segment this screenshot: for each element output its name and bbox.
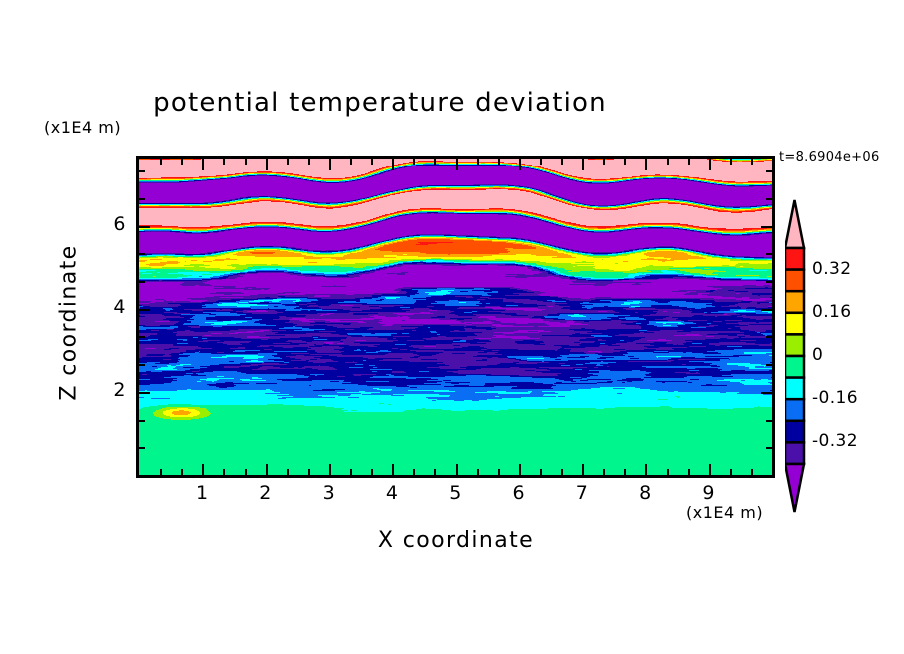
axis-tick — [245, 159, 247, 165]
y-tick-label: 2 — [86, 379, 126, 401]
axis-tick — [223, 469, 225, 475]
axis-tick — [603, 159, 605, 165]
axis-tick — [223, 159, 225, 165]
axis-tick — [434, 469, 436, 475]
x-tick-label: 2 — [246, 482, 286, 504]
axis-tick — [624, 469, 626, 475]
axis-tick — [392, 159, 394, 170]
axis-tick — [350, 469, 352, 475]
colorbar-tick-label: 0 — [812, 345, 823, 365]
axis-tick — [139, 309, 150, 311]
colorbar-band — [785, 313, 804, 335]
axis-tick — [498, 159, 500, 165]
axis-tick — [709, 464, 711, 475]
axis-tick — [139, 364, 145, 366]
axis-tick — [308, 159, 310, 165]
axis-tick — [160, 469, 162, 475]
x-axis-title: X coordinate — [136, 528, 776, 553]
figure-root: potential temperature deviation (x1E4 m)… — [0, 0, 904, 654]
x-tick-label: 6 — [499, 482, 539, 504]
colorbar-band — [785, 270, 804, 292]
axis-tick — [561, 159, 563, 165]
axis-tick — [139, 420, 145, 422]
colorbar-tick-label: 0.16 — [812, 302, 851, 322]
y-tick-label: 6 — [86, 213, 126, 235]
x-axis-unit-label: (x1E4 m) — [686, 503, 763, 522]
colorbar-band — [785, 399, 804, 421]
axis-tick — [139, 447, 145, 449]
axis-tick — [603, 469, 605, 475]
axis-tick — [582, 464, 584, 475]
colorbar-band — [785, 378, 804, 400]
y-axis-title: Z coordinate — [57, 223, 82, 423]
axis-tick — [751, 159, 753, 165]
axis-tick — [266, 159, 268, 170]
colorbar-tick-label: -0.16 — [812, 388, 858, 408]
axis-tick — [181, 469, 183, 475]
axis-tick — [709, 159, 711, 170]
axis-tick — [730, 159, 732, 165]
axis-tick — [498, 469, 500, 475]
axis-tick — [582, 159, 584, 170]
y-tick-label: 4 — [86, 296, 126, 318]
axis-tick — [329, 159, 331, 170]
colorbar-band — [785, 248, 804, 270]
colorbar-tick-label: -0.32 — [812, 431, 858, 451]
axis-tick — [245, 469, 247, 475]
axis-tick — [139, 281, 145, 283]
axis-tick — [667, 469, 669, 475]
axis-tick — [751, 469, 753, 475]
axis-tick — [519, 464, 521, 475]
page-title: potential temperature deviation — [0, 88, 760, 118]
axis-tick — [266, 464, 268, 475]
axis-tick — [392, 464, 394, 475]
x-tick-label: 4 — [372, 482, 412, 504]
axis-tick — [766, 336, 772, 338]
contour-plot-area — [136, 156, 775, 478]
axis-tick — [287, 469, 289, 475]
axis-tick — [139, 198, 145, 200]
axis-tick — [766, 447, 772, 449]
axis-tick — [371, 159, 373, 165]
axis-tick — [139, 336, 145, 338]
axis-tick — [766, 253, 772, 255]
axis-tick — [139, 226, 150, 228]
axis-tick — [371, 469, 373, 475]
axis-tick — [645, 464, 647, 475]
colorbar-band — [785, 442, 804, 464]
axis-tick — [766, 281, 772, 283]
axis-tick — [434, 159, 436, 165]
axis-tick — [519, 159, 521, 170]
axis-tick — [456, 159, 458, 170]
axis-tick — [766, 420, 772, 422]
axis-tick — [667, 159, 669, 165]
colorbar-over-cap — [785, 200, 804, 248]
x-tick-label: 5 — [436, 482, 476, 504]
axis-tick — [477, 469, 479, 475]
temperature-deviation-field — [139, 159, 772, 475]
x-tick-label: 7 — [562, 482, 602, 504]
axis-tick — [181, 159, 183, 165]
axis-tick — [329, 464, 331, 475]
axis-tick — [202, 464, 204, 475]
y-axis-unit-label: (x1E4 m) — [44, 118, 121, 137]
x-tick-label: 1 — [182, 482, 222, 504]
x-tick-label: 3 — [309, 482, 349, 504]
axis-tick — [160, 159, 162, 165]
axis-tick — [766, 364, 772, 366]
axis-tick — [139, 253, 145, 255]
colorbar-tick-label: 0.32 — [812, 259, 851, 279]
colorbar-under-cap — [785, 464, 804, 512]
axis-tick — [139, 392, 150, 394]
colorbar-band — [785, 334, 804, 356]
axis-tick — [477, 159, 479, 165]
axis-tick — [624, 159, 626, 165]
axis-tick — [413, 159, 415, 165]
x-tick-label: 8 — [625, 482, 665, 504]
time-stamp-annotation: t=8.6904e+06 — [779, 150, 880, 165]
axis-tick — [540, 159, 542, 165]
axis-tick — [645, 159, 647, 170]
axis-tick — [766, 170, 772, 172]
axis-tick — [688, 469, 690, 475]
axis-tick — [456, 464, 458, 475]
axis-tick — [761, 226, 772, 228]
x-tick-label: 9 — [689, 482, 729, 504]
axis-tick — [561, 469, 563, 475]
axis-tick — [761, 392, 772, 394]
axis-tick — [308, 469, 310, 475]
axis-tick — [688, 159, 690, 165]
axis-tick — [730, 469, 732, 475]
axis-tick — [761, 309, 772, 311]
colorbar-band — [785, 291, 804, 313]
colorbar-band — [785, 421, 804, 443]
axis-tick — [202, 159, 204, 170]
axis-tick — [540, 469, 542, 475]
axis-tick — [139, 170, 145, 172]
axis-tick — [766, 198, 772, 200]
axis-tick — [413, 469, 415, 475]
axis-tick — [350, 159, 352, 165]
axis-tick — [287, 159, 289, 165]
colorbar-band — [785, 356, 804, 378]
